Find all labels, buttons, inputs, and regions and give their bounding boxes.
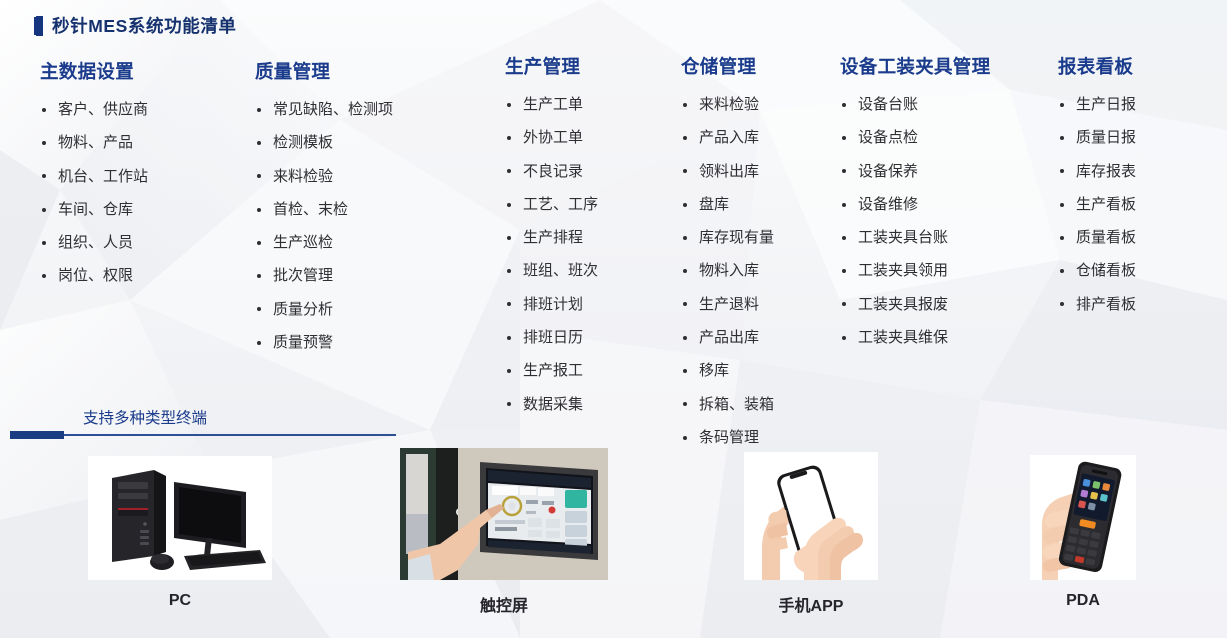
bullet-icon [1060, 236, 1064, 240]
list-item-label: 质量日报 [1076, 129, 1136, 146]
bullet-icon [842, 336, 846, 340]
list-item[interactable]: 排班日历 [505, 321, 598, 354]
function-column-production: 生产管理 生产工单 外协工单 不良记录 工艺、工序 生产排程 班组、班次 排班计… [505, 53, 598, 421]
bullet-icon [507, 136, 511, 140]
bullet-icon [1060, 269, 1064, 273]
bullet-icon [842, 236, 846, 240]
list-item[interactable]: 工装夹具台账 [840, 221, 990, 254]
list-item-label: 车间、仓库 [58, 201, 133, 218]
touch-screen-panel-icon [400, 448, 608, 580]
list-item[interactable]: 设备保养 [840, 155, 990, 188]
bullet-icon [257, 241, 261, 245]
list-item[interactable]: 生产日报 [1058, 88, 1136, 121]
bullet-icon [1060, 103, 1064, 107]
list-item[interactable]: 质量预警 [255, 326, 393, 359]
list-item-label: 排产看板 [1076, 296, 1136, 313]
bullet-icon [507, 169, 511, 173]
list-item[interactable]: 机台、工作站 [40, 160, 148, 193]
list-item-label: 生产工单 [523, 96, 583, 113]
list-item[interactable]: 设备点检 [840, 121, 990, 154]
bullet-icon [683, 169, 687, 173]
column-item-list: 设备台账 设备点检 设备保养 设备维修 工装夹具台账 工装夹具领用 工装夹具报废… [840, 88, 990, 354]
list-item[interactable]: 拆箱、装箱 [681, 388, 774, 421]
list-item-label: 外协工单 [523, 129, 583, 146]
list-item[interactable]: 排产看板 [1058, 288, 1136, 321]
function-column-quality: 质量管理 常见缺陷、检测项 检测模板 来料检验 首检、末检 生产巡检 批次管理 … [255, 58, 393, 359]
phone-photo-frame [744, 452, 878, 580]
bullet-icon [507, 336, 511, 340]
list-item-label: 库存报表 [1076, 163, 1136, 180]
list-item-label: 组织、人员 [58, 234, 133, 251]
list-item-label: 移库 [699, 362, 729, 379]
list-item[interactable]: 盘库 [681, 188, 774, 221]
list-item[interactable]: 工装夹具维保 [840, 321, 990, 354]
list-item[interactable]: 检测模板 [255, 126, 393, 159]
bullet-icon [683, 136, 687, 140]
bullet-icon [42, 108, 46, 112]
bullet-icon [507, 203, 511, 207]
list-item-label: 领料出库 [699, 163, 759, 180]
list-item[interactable]: 生产巡检 [255, 226, 393, 259]
list-item[interactable]: 设备台账 [840, 88, 990, 121]
function-column-warehouse: 仓储管理 来料检验 产品入库 领料出库 盘库 库存现有量 物料入库 生产退料 产… [681, 53, 774, 454]
list-item[interactable]: 工装夹具报废 [840, 288, 990, 321]
list-item[interactable]: 产品入库 [681, 121, 774, 154]
bullet-icon [842, 103, 846, 107]
column-heading: 生产管理 [505, 53, 598, 79]
list-item[interactable]: 来料检验 [681, 88, 774, 121]
terminal-label: PC [88, 592, 272, 610]
list-item[interactable]: 车间、仓库 [40, 193, 148, 226]
list-item-label: 设备保养 [858, 163, 918, 180]
list-item[interactable]: 排班计划 [505, 288, 598, 321]
column-item-list: 生产日报 质量日报 库存报表 生产看板 质量看板 仓储看板 排产看板 [1058, 88, 1136, 321]
list-item-label: 机台、工作站 [58, 168, 148, 185]
list-item[interactable]: 组织、人员 [40, 226, 148, 259]
list-item[interactable]: 不良记录 [505, 155, 598, 188]
bullet-icon [257, 274, 261, 278]
column-item-list: 常见缺陷、检测项 检测模板 来料检验 首检、末检 生产巡检 批次管理 质量分析 … [255, 93, 393, 359]
bullet-icon [1060, 169, 1064, 173]
list-item-label: 生产巡检 [273, 234, 333, 251]
list-item[interactable]: 工艺、工序 [505, 188, 598, 221]
list-item[interactable]: 生产看板 [1058, 188, 1136, 221]
bullet-icon [1060, 203, 1064, 207]
list-item-label: 工装夹具维保 [858, 329, 948, 346]
list-item[interactable]: 客户、供应商 [40, 93, 148, 126]
list-item-label: 不良记录 [523, 163, 583, 180]
bullet-icon [507, 103, 511, 107]
bullet-icon [842, 302, 846, 306]
list-item[interactable]: 库存报表 [1058, 155, 1136, 188]
list-item-label: 班组、班次 [523, 262, 598, 279]
bullet-icon [842, 203, 846, 207]
list-item-label: 物料入库 [699, 262, 759, 279]
bullet-icon [683, 302, 687, 306]
pda-photo-frame [1030, 455, 1136, 580]
list-item[interactable]: 物料入库 [681, 254, 774, 287]
column-heading: 仓储管理 [681, 53, 774, 79]
column-item-list: 客户、供应商 物料、产品 机台、工作站 车间、仓库 组织、人员 岗位、权限 [40, 93, 148, 293]
column-item-list: 生产工单 外协工单 不良记录 工艺、工序 生产排程 班组、班次 排班计划 排班日… [505, 88, 598, 421]
list-item[interactable]: 质量分析 [255, 293, 393, 326]
list-item-label: 产品出库 [699, 329, 759, 346]
bullet-icon [42, 274, 46, 278]
list-item-label: 生产报工 [523, 362, 583, 379]
terminal-item-phone-app[interactable]: 手机APP [744, 452, 878, 616]
function-column-master-data: 主数据设置 客户、供应商 物料、产品 机台、工作站 车间、仓库 组织、人员 岗位… [40, 58, 148, 293]
bullet-icon [683, 103, 687, 107]
list-item[interactable]: 领料出库 [681, 155, 774, 188]
list-item-label: 客户、供应商 [58, 101, 148, 118]
column-item-list: 来料检验 产品入库 领料出库 盘库 库存现有量 物料入库 生产退料 产品出库 移… [681, 88, 774, 454]
bullet-icon [683, 236, 687, 240]
list-item-label: 生产退料 [699, 296, 759, 313]
bullet-icon [507, 269, 511, 273]
bullet-icon [42, 241, 46, 245]
touchscreen-photo-frame [400, 448, 608, 580]
list-item-label: 排班计划 [523, 296, 583, 313]
list-item[interactable]: 批次管理 [255, 259, 393, 292]
column-heading: 报表看板 [1058, 53, 1136, 79]
list-item-label: 仓储看板 [1076, 262, 1136, 279]
bullet-icon [683, 402, 687, 406]
terminal-label: 手机APP [744, 592, 878, 616]
bullet-icon [683, 203, 687, 207]
bullet-icon [257, 307, 261, 311]
list-item[interactable]: 外协工单 [505, 121, 598, 154]
bullet-icon [683, 436, 687, 440]
list-item[interactable]: 来料检验 [255, 160, 393, 193]
bullet-icon [842, 169, 846, 173]
list-item-label: 设备台账 [858, 96, 918, 113]
list-item[interactable]: 设备维修 [840, 188, 990, 221]
list-item-label: 设备点检 [858, 129, 918, 146]
list-item-label: 工装夹具台账 [858, 229, 948, 246]
list-item[interactable]: 物料、产品 [40, 126, 148, 159]
list-item-label: 物料、产品 [58, 134, 133, 151]
function-column-equipment: 设备工装夹具管理 设备台账 设备点检 设备保养 设备维修 工装夹具台账 工装夹具… [840, 53, 990, 354]
list-item-label: 来料检验 [699, 96, 759, 113]
list-item[interactable]: 数据采集 [505, 388, 598, 421]
list-item-label: 质量分析 [273, 301, 333, 318]
list-item[interactable]: 质量看板 [1058, 221, 1136, 254]
hands-holding-smartphone-icon [744, 452, 878, 580]
pc-photo-frame [88, 456, 272, 580]
bullet-icon [683, 269, 687, 273]
bullet-icon [507, 369, 511, 373]
list-item-label: 工艺、工序 [523, 196, 598, 213]
function-column-reports: 报表看板 生产日报 质量日报 库存报表 生产看板 质量看板 仓储看板 排产看板 [1058, 53, 1136, 321]
list-item-label: 岗位、权限 [58, 267, 133, 284]
list-item[interactable]: 产品出库 [681, 321, 774, 354]
bullet-icon [507, 402, 511, 406]
terminal-item-pda[interactable]: PDA [1030, 455, 1136, 610]
list-item-label: 拆箱、装箱 [699, 396, 774, 413]
terminal-label: PDA [1030, 592, 1136, 610]
section-divider [10, 434, 396, 436]
list-item[interactable]: 仓储看板 [1058, 254, 1136, 287]
bullet-icon [257, 108, 261, 112]
list-item-label: 排班日历 [523, 329, 583, 346]
list-item[interactable]: 生产工单 [505, 88, 598, 121]
list-item-label: 数据采集 [523, 396, 583, 413]
bullet-icon [257, 174, 261, 178]
bullet-icon [507, 302, 511, 306]
divider-accent-segment [10, 431, 64, 439]
bullet-icon [257, 141, 261, 145]
list-item-label: 质量预警 [273, 334, 333, 351]
list-item[interactable]: 生产排程 [505, 221, 598, 254]
function-columns: 主数据设置 客户、供应商 物料、产品 机台、工作站 车间、仓库 组织、人员 岗位… [0, 0, 1227, 440]
list-item-label: 生产日报 [1076, 96, 1136, 113]
list-item-label: 生产排程 [523, 229, 583, 246]
column-heading: 主数据设置 [40, 58, 148, 84]
bullet-icon [683, 336, 687, 340]
list-item[interactable]: 生产报工 [505, 354, 598, 387]
list-item-label: 生产看板 [1076, 196, 1136, 213]
list-item[interactable]: 岗位、权限 [40, 259, 148, 292]
bullet-icon [257, 341, 261, 345]
bullet-icon [42, 174, 46, 178]
terminals-gallery: PC [0, 440, 1227, 638]
column-heading: 设备工装夹具管理 [840, 53, 990, 79]
terminals-section-heading: 支持多种类型终端 [83, 406, 207, 428]
bullet-icon [257, 208, 261, 212]
list-item-label: 检测模板 [273, 134, 333, 151]
list-item-label: 产品入库 [699, 129, 759, 146]
list-item-label: 常见缺陷、检测项 [273, 101, 393, 118]
list-item-label: 工装夹具报废 [858, 296, 948, 313]
list-item-label: 库存现有量 [699, 229, 774, 246]
hand-holding-pda-scanner-icon [1030, 455, 1136, 580]
list-item-label: 来料检验 [273, 168, 333, 185]
list-item-label: 盘库 [699, 196, 729, 213]
list-item[interactable]: 移库 [681, 354, 774, 387]
bullet-icon [1060, 136, 1064, 140]
list-item-label: 工装夹具领用 [858, 262, 948, 279]
list-item-label: 批次管理 [273, 267, 333, 284]
list-item[interactable]: 首检、末检 [255, 193, 393, 226]
bullet-icon [42, 208, 46, 212]
list-item-label: 设备维修 [858, 196, 918, 213]
bullet-icon [683, 369, 687, 373]
bullet-icon [842, 136, 846, 140]
list-item[interactable]: 质量日报 [1058, 121, 1136, 154]
column-heading: 质量管理 [255, 58, 393, 84]
terminal-item-pc[interactable]: PC [88, 456, 272, 610]
slide-canvas: 秒针MES系统功能清单 主数据设置 客户、供应商 物料、产品 机台、工作站 车间… [0, 0, 1227, 638]
list-item-label: 质量看板 [1076, 229, 1136, 246]
desktop-computer-icon [88, 456, 272, 580]
bullet-icon [842, 269, 846, 273]
bullet-icon [507, 236, 511, 240]
bullet-icon [1060, 302, 1064, 306]
terminal-label: 触控屏 [400, 592, 608, 616]
list-item-label: 首检、末检 [273, 201, 348, 218]
list-item[interactable]: 班组、班次 [505, 254, 598, 287]
terminal-item-touchscreen[interactable]: 触控屏 [400, 448, 608, 616]
list-item[interactable]: 库存现有量 [681, 221, 774, 254]
list-item[interactable]: 常见缺陷、检测项 [255, 93, 393, 126]
list-item[interactable]: 生产退料 [681, 288, 774, 321]
bullet-icon [42, 141, 46, 145]
list-item[interactable]: 工装夹具领用 [840, 254, 990, 287]
